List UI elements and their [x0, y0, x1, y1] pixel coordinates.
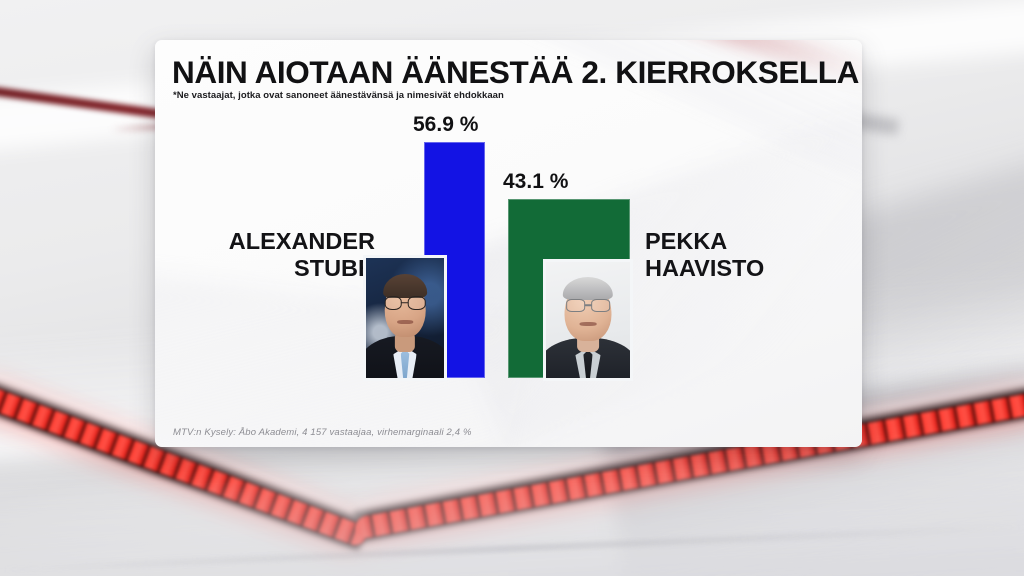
portrait-glasses [566, 299, 610, 312]
candidate-last-name: HAAVISTO [645, 255, 764, 282]
portrait-lens-left [566, 299, 585, 312]
candidate-first-name: PEKKA [645, 228, 764, 255]
portrait-lens-right [408, 296, 425, 309]
value-label-haavisto: 43.1 % [503, 170, 568, 194]
candidate-first-name: ALEXANDER [165, 228, 375, 255]
pekka-haavisto-portrait [546, 262, 630, 378]
source-credit: MTV:n Kysely: Åbo Akademi, 4 157 vastaaj… [173, 427, 472, 438]
portrait-lens-right [591, 299, 610, 312]
alexander-stubb-portrait [366, 258, 444, 378]
candidate-name-stubb: ALEXANDER STUBB [165, 228, 375, 283]
value-label-stubb: 56.9 % [413, 113, 478, 137]
portrait-glasses-bridge [402, 302, 408, 304]
portrait-lens-left [385, 296, 402, 309]
graphic-card: NÄIN AIOTAAN ÄÄNESTÄÄ 2. KIERROKSELLA *N… [155, 40, 862, 447]
portrait-glasses [385, 296, 426, 309]
portrait-glasses-bridge [585, 305, 592, 307]
candidate-last-name: STUBB [165, 255, 375, 282]
broadcast-graphic-screenshot: NÄIN AIOTAAN ÄÄNESTÄÄ 2. KIERROKSELLA *N… [0, 0, 1024, 576]
candidate-name-haavisto: PEKKA HAAVISTO [645, 228, 764, 283]
bar-chart-plot-area: ALEXANDER STUBB 56.9 % [155, 40, 862, 447]
portrait-mouth [397, 320, 413, 324]
